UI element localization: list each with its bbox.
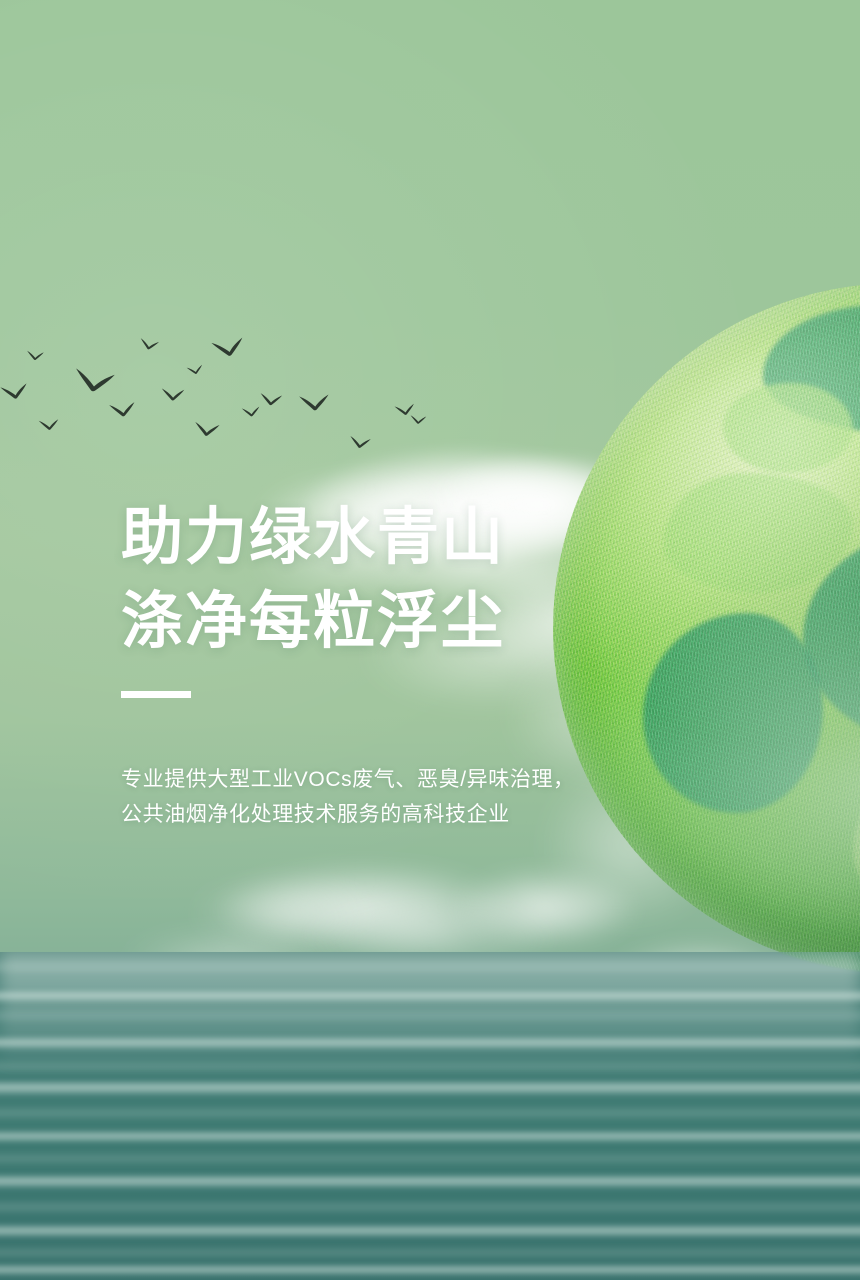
promotional-poster: 助力绿水青山 涤净每粒浮尘 专业提供大型工业VOCs废气、恶臭/异味治理， 公共… <box>0 0 860 1280</box>
water-surface <box>0 952 860 1280</box>
subtitle-line-2: 公共油烟净化处理技术服务的高科技企业 <box>121 797 575 832</box>
water-ripple <box>0 1108 860 1118</box>
water-ripple <box>0 1130 860 1143</box>
page-title: 助力绿水青山 涤净每粒浮尘 <box>121 496 505 664</box>
water-ripple <box>0 1154 860 1163</box>
water-ripple <box>0 1248 860 1257</box>
headline-line-1: 助力绿水青山 <box>121 496 505 580</box>
water-ripple <box>0 1264 860 1276</box>
water-ripple <box>0 1080 860 1096</box>
water-ripple <box>0 1174 860 1189</box>
water-ripple <box>0 1202 860 1212</box>
water-ripple <box>0 1012 860 1020</box>
water-ripple <box>0 1036 860 1050</box>
water-ripple <box>0 990 860 1002</box>
subtitle: 专业提供大型工业VOCs废气、恶臭/异味治理， 公共油烟净化处理技术服务的高科技… <box>121 762 575 832</box>
water-ripple <box>0 1224 860 1238</box>
water-ripple <box>0 1062 860 1071</box>
subtitle-line-1: 专业提供大型工业VOCs废气、恶臭/异味治理， <box>121 762 575 797</box>
title-divider <box>121 691 191 698</box>
water-ripple <box>0 962 860 972</box>
headline-line-2: 涤净每粒浮尘 <box>121 580 505 664</box>
